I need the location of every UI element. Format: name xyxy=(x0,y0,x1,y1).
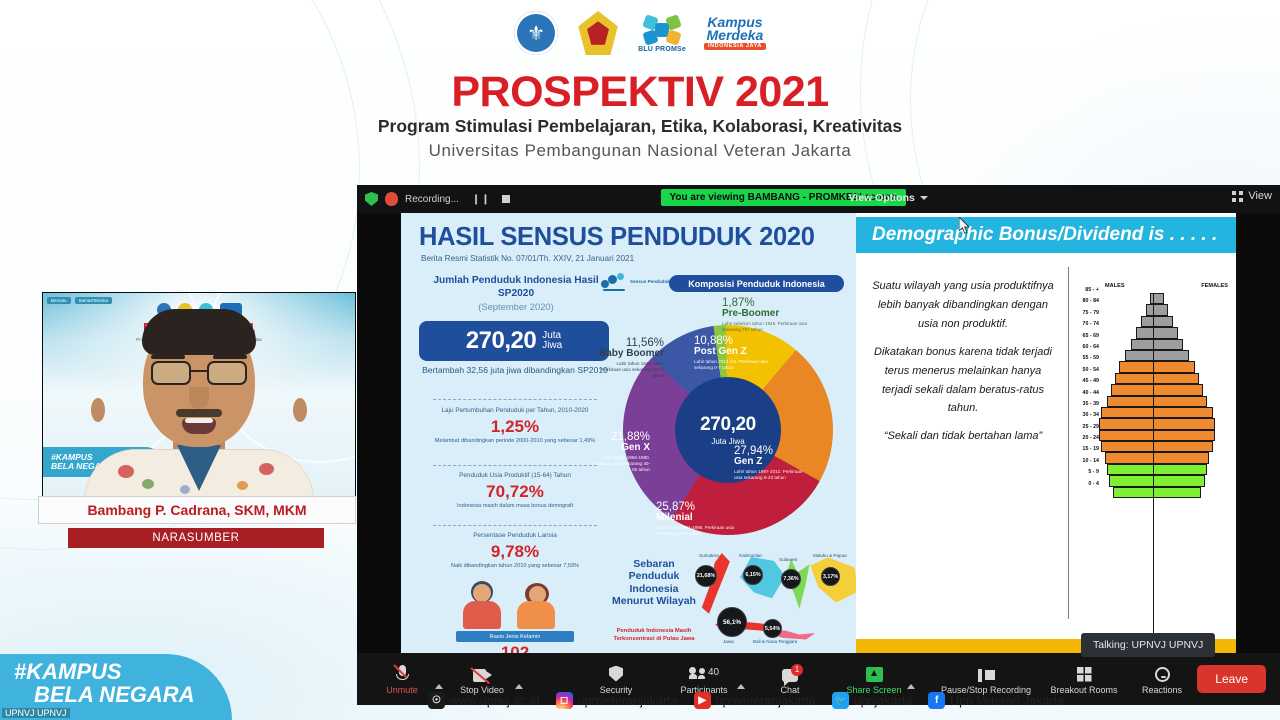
pie-label-baby-boomer: 11,56% Baby Boomer Lahir tahun 1946-1964… xyxy=(598,337,664,380)
instagram-icon: ◻ xyxy=(556,692,573,709)
stat-caption: Penduduk Usia Produktif (15-64) Tahun xyxy=(421,472,609,480)
pie-desc: Lahir tahun 1981-1996. Perkiraan usia se… xyxy=(656,525,738,537)
pie-label-milenial: 25,87% Milenial Lahir tahun 1981-1996. P… xyxy=(656,501,738,537)
pie-label-post-gen-z: 10,88% Post Gen Z Lahir tahun 2013 dst. … xyxy=(694,335,774,371)
speaker-person xyxy=(84,336,314,501)
speaker-name-banner: Bambang P. Cadrana, SKM, MKM xyxy=(38,496,356,524)
pie-name: Baby Boomer xyxy=(598,348,664,359)
map-caption-kalimantan: Kalimantan xyxy=(739,553,762,558)
kampus-merdeka-line3: INDONESIA JAYA xyxy=(704,43,766,50)
stat-value: 9,78% xyxy=(421,542,609,562)
chat-bubble-icon: 1 xyxy=(782,664,798,682)
person-head xyxy=(143,315,255,447)
page-subtitle-program: Program Stimulasi Pembelajaran, Etika, K… xyxy=(0,116,1280,137)
pyramid-bar xyxy=(1101,407,1213,418)
map-bubble-jawa: 56,1% xyxy=(717,607,747,637)
pyramid-bar xyxy=(1101,441,1213,452)
stop-video-button[interactable]: Stop Video xyxy=(451,664,513,695)
bubble-value: 7,36% xyxy=(783,576,798,582)
map-bubble-kalimantan: 6,15% xyxy=(743,565,763,585)
pyramid-row xyxy=(1099,373,1215,384)
stat-caption: Laju Pertumbuhan Penduduk per Tahun, 201… xyxy=(421,407,609,415)
audio-options-chevron-icon[interactable] xyxy=(435,684,443,689)
unit-line2: Jiwa xyxy=(542,340,562,351)
pie-label-pre-boomer: 1,87% Pre-Boomer Lahir sebelum tahun 194… xyxy=(722,297,812,333)
stat-note: Melambat dibandingkan periode 2000-2010 … xyxy=(421,438,609,445)
komposisi-title: Komposisi Penduduk Indonesia xyxy=(669,275,844,292)
pie-name: Pre-Boomer xyxy=(722,308,812,319)
pyramid-row xyxy=(1099,441,1215,452)
map-bubble-bali-nusa-tenggara: 5,54% xyxy=(763,619,782,638)
person-ear-right xyxy=(293,398,307,422)
social-facebook[interactable]: f Upn Veteran Jakarta xyxy=(928,692,1064,709)
participants-count: 40 xyxy=(708,667,719,678)
divider xyxy=(433,465,597,466)
pyramid-age-tick: 40 - 44 xyxy=(1073,388,1099,399)
zoom-top-bar: Recording... ❙❙ You are viewing BAMBANG … xyxy=(357,185,1280,213)
pause-stop-recording-icon xyxy=(978,664,995,682)
stop-recording-button[interactable] xyxy=(502,195,510,203)
map-bubble-sulawesi: 7,36% xyxy=(781,569,801,589)
pyramid-age-tick: 20 - 24 xyxy=(1073,433,1099,444)
pyramid-age-tick: 35 - 39 xyxy=(1073,399,1099,410)
population-headline-line3: (September 2020) xyxy=(421,301,611,313)
pyramid-row xyxy=(1099,293,1215,304)
map-caption-maluku-papua: Maluku & Papua xyxy=(813,553,847,558)
pie-center-value: 270,20 xyxy=(700,414,756,436)
pyramid-bar xyxy=(1131,339,1183,350)
pyramid-age-tick: 80 - 84 xyxy=(1073,296,1099,307)
pyramid-row xyxy=(1099,475,1215,486)
pie-desc: Lahir tahun 1997-2012. Perkiraan usia se… xyxy=(734,469,812,481)
pause-stop-recording-button[interactable]: Pause/Stop Recording xyxy=(931,664,1041,695)
map-caption-jawa: Jawa xyxy=(723,639,734,644)
chevron-down-icon xyxy=(920,196,928,200)
stat-value: 70,72% xyxy=(421,482,609,502)
pie-desc: Lahir tahun 1946-1964. Perkiraan usia se… xyxy=(598,361,664,380)
stat-caption: Persentase Penduduk Lansia xyxy=(421,532,609,540)
facebook-icon: f xyxy=(928,692,945,709)
pyramid-age-tick: 55 - 59 xyxy=(1073,353,1099,364)
pyramid-age-tick: 60 - 64 xyxy=(1073,342,1099,353)
screen-root: ⚜ BLU PROMSe Kampus Merdeka INDONESIA JA… xyxy=(0,0,1280,720)
divider xyxy=(433,399,597,400)
infographic-title: HASIL SENSUS PENDUDUK 2020 xyxy=(419,223,815,252)
gender-ratio-value: 102 xyxy=(421,643,609,653)
pie-desc: Lahir tahun 1965-1980. Perkiraan usia se… xyxy=(590,455,650,474)
pyramid-age-tick: 50 - 54 xyxy=(1073,365,1099,376)
pyramid-age-tick: 85 - + xyxy=(1073,285,1099,296)
map-title: Sebaran Penduduk Indonesia Menurut Wilay… xyxy=(611,558,697,608)
shield-icon xyxy=(609,664,623,682)
social-youtube[interactable]: ▶ upnveteranjakarta xyxy=(694,692,816,709)
share-screen-icon xyxy=(866,664,883,682)
stat-value: 1,25% xyxy=(421,417,609,437)
speaker-video-thumbnail[interactable]: Bersatu Sama4Teknika PROSPEKTIV 2021 Pro… xyxy=(42,292,356,502)
total-population-pill: 270,20 Juta Jiwa xyxy=(419,321,609,361)
demographic-bonus-panel: Demographic Bonus/Dividend is . . . . . … xyxy=(856,213,1236,653)
talking-indicator-tooltip: Talking: UPNVJ UPNVJ xyxy=(1081,633,1215,657)
population-headline-line1: Jumlah Penduduk Indonesia xyxy=(433,275,571,286)
map-caption-sulawesi: Sulawesi xyxy=(779,557,797,562)
participants-button[interactable]: 40 Participants xyxy=(673,664,735,695)
map-caption-sumatera: Sumatera xyxy=(699,553,719,558)
page-title: PROSPEKTIV 2021 xyxy=(0,68,1280,117)
infographic-subtitle: Berita Resmi Statistik No. 07/01/Th. XXI… xyxy=(421,254,634,263)
bubble-value: 21,68% xyxy=(697,573,715,579)
pyramid-age-tick: 0 - 4 xyxy=(1073,479,1099,490)
total-population-value: 270,20 xyxy=(466,327,536,355)
pyramid-row xyxy=(1099,487,1215,498)
watermark-label: UPNVJ UPNVJ xyxy=(2,708,70,718)
leave-meeting-button[interactable]: Leave xyxy=(1197,665,1266,693)
unmute-button[interactable]: Unmute xyxy=(371,664,433,695)
microphone-muted-icon xyxy=(396,664,409,682)
pie-name: Gen X xyxy=(590,442,650,453)
pyramid-age-tick: 45 - 49 xyxy=(1073,376,1099,387)
pyramid-bar xyxy=(1105,452,1209,463)
pyramid-age-axis: 85 - +80 - 8475 - 7970 - 7465 - 6960 - 6… xyxy=(1073,285,1099,490)
pyramid-row xyxy=(1099,327,1215,338)
breakout-rooms-button[interactable]: Breakout Rooms xyxy=(1041,664,1127,695)
pyramid-age-tick: 10 - 14 xyxy=(1073,456,1099,467)
map-bubble-sumatera: 21,68% xyxy=(695,565,717,587)
pyramid-age-tick: 70 - 74 xyxy=(1073,319,1099,330)
stat-productive-age: Penduduk Usia Produktif (15-64) Tahun 70… xyxy=(421,472,609,511)
facebook-label: Upn Veteran Jakarta xyxy=(950,694,1064,708)
paragraph-3: “Sekali dan tidak bertahan lama” xyxy=(870,427,1056,446)
blu-promse-logo: BLU PROMSe xyxy=(638,14,686,53)
mouse-cursor-icon xyxy=(959,217,971,234)
pyramid-bar xyxy=(1099,418,1215,429)
social-website[interactable]: ☉ www.upnvj.ac.id xyxy=(428,692,540,709)
pyramid-row xyxy=(1099,430,1215,441)
pyramid-row xyxy=(1099,350,1215,361)
pyramid-bar xyxy=(1125,350,1189,361)
logo-row: ⚜ BLU PROMSe Kampus Merdeka INDONESIA JA… xyxy=(0,8,1280,58)
social-links-row: ☉ www.upnvj.ac.id ◻ upnveteranjakarta ▶ … xyxy=(428,692,1064,709)
kbn-line1: #KAMPUS xyxy=(14,660,232,683)
participants-chevron-icon[interactable] xyxy=(737,684,745,689)
pyramid-age-tick: 75 - 79 xyxy=(1073,308,1099,319)
pyramid-age-tick: 30 - 34 xyxy=(1073,410,1099,421)
paragraph-2: Dikatakan bonus karena tidak terjadi ter… xyxy=(870,343,1056,419)
gender-ratio-tag: Rasio Jenis Kelamin xyxy=(456,631,574,642)
unit-line1: Juta xyxy=(542,330,561,341)
demographic-bonus-text: Suatu wilayah yang usia produktifnya leb… xyxy=(856,261,1068,639)
blu-promse-label: BLU PROMSe xyxy=(638,46,686,53)
total-population-unit: Juta Jiwa xyxy=(542,331,562,352)
social-instagram[interactable]: ◻ upnveteranjakarta xyxy=(556,692,678,709)
shared-slide: HASIL SENSUS PENDUDUK 2020 Berita Resmi … xyxy=(401,213,1236,653)
people-icon: 40 xyxy=(689,664,719,682)
map-bubble-maluku-papua: 3,17% xyxy=(821,567,840,586)
pie-name: Post Gen Z xyxy=(694,346,774,357)
youtube-label: upnveteranjakarta xyxy=(716,694,816,708)
pause-recording-button[interactable]: ❙❙ xyxy=(472,194,491,205)
pyramid-row xyxy=(1099,418,1215,429)
website-icon: ☉ xyxy=(428,692,445,709)
person-glasses xyxy=(151,361,247,385)
pyramid-row xyxy=(1099,396,1215,407)
speaker-role-banner: NARASUMBER xyxy=(68,528,324,548)
chat-unread-badge: 1 xyxy=(791,664,803,676)
page-subtitle-university: Universitas Pembangunan Nasional Veteran… xyxy=(0,141,1280,161)
person-mouth xyxy=(182,418,216,434)
person-eyebrow-left xyxy=(151,355,185,359)
demographic-bonus-banner: Demographic Bonus/Dividend is . . . . . xyxy=(856,217,1236,253)
pie-desc: Lahir tahun 2013 dst. Perkiraan usia sek… xyxy=(694,359,774,371)
pyramid-females-label: FEMALES xyxy=(1201,283,1228,289)
page-header: ⚜ BLU PROMSe Kampus Merdeka INDONESIA JA… xyxy=(0,0,1280,180)
pyramid-age-tick: 65 - 69 xyxy=(1073,331,1099,342)
paragraph-1: Suatu wilayah yang usia produktifnya leb… xyxy=(870,277,1056,334)
population-composition-pie-chart: 270,20 Juta Jiwa 1,87% Pre-Boomer Lahir … xyxy=(594,305,852,567)
bubble-value: 5,54% xyxy=(765,626,780,632)
social-twitter[interactable]: 🐦 upnjakarta xyxy=(832,692,912,709)
bubble-value: 56,1% xyxy=(723,619,741,626)
bubble-value: 6,15% xyxy=(745,572,760,578)
pyramid-bar xyxy=(1136,327,1178,338)
demographic-bonus-body: Suatu wilayah yang usia produktifnya leb… xyxy=(856,261,1236,639)
youtube-icon: ▶ xyxy=(694,692,711,709)
pyramid-center-line xyxy=(1153,293,1154,639)
recording-indicator-icon[interactable] xyxy=(385,192,398,206)
kampus-merdeka-logo: Kampus Merdeka INDONESIA JAYA xyxy=(704,16,766,50)
total-population-note: Bertambah 32,56 juta jiwa dibandingkan S… xyxy=(421,365,609,376)
upnvj-logo xyxy=(576,11,620,55)
website-label: www.upnvj.ac.id xyxy=(450,694,540,708)
pyramid-row xyxy=(1099,452,1215,463)
pyramid-bar xyxy=(1107,464,1207,475)
pyramid-bar xyxy=(1109,475,1205,486)
pie-label-gen-x: 21,88% Gen X Lahir tahun 1965-1980. Perk… xyxy=(590,431,650,474)
view-button-label: View xyxy=(1248,190,1272,202)
stat-note: Naik dibandingkan tahun 2010 yang sebesa… xyxy=(421,563,609,570)
pie-name: Milenial xyxy=(656,512,738,523)
encryption-shield-icon[interactable] xyxy=(365,192,378,206)
pyramid-row xyxy=(1099,304,1215,315)
pyramid-bar xyxy=(1111,384,1203,395)
stat-note: Indonesia masih dalam masa bonus demogra… xyxy=(421,503,609,510)
pyramid-bar xyxy=(1107,396,1207,407)
view-options-button[interactable]: View Options xyxy=(841,189,936,207)
pyramid-bar xyxy=(1146,304,1168,315)
grid-view-icon xyxy=(1232,191,1243,202)
pyramid-bar xyxy=(1099,430,1215,441)
person-hair xyxy=(142,309,256,355)
pyramid-row xyxy=(1099,361,1215,372)
chat-button[interactable]: 1 Chat xyxy=(759,664,821,695)
person-ear-left xyxy=(91,398,105,422)
population-pyramid-chart: MALES FEMALES 85 - +80 - 8475 - 7970 - 7… xyxy=(1069,261,1236,639)
pie-desc: Lahir sebelum tahun 1945. Perkiraan usia… xyxy=(722,321,812,333)
gender-ratio-illustration xyxy=(459,581,571,629)
population-headline: Jumlah Penduduk Indonesia Hasil SP2020 (… xyxy=(421,275,611,312)
stat-elderly: Persentase Penduduk Lansia 9,78% Naik di… xyxy=(421,532,609,571)
pyramid-age-tick: 15 - 19 xyxy=(1073,444,1099,455)
person-eyebrow-right xyxy=(213,355,247,359)
kbn-line2: BELA NEGARA xyxy=(14,683,232,706)
share-options-chevron-icon[interactable] xyxy=(907,684,915,689)
breakout-rooms-icon xyxy=(1077,664,1092,682)
camera-off-icon xyxy=(473,664,492,682)
person-nose xyxy=(189,387,209,409)
pyramid-bar xyxy=(1141,316,1173,327)
recording-label: Recording... xyxy=(405,194,459,205)
pyramid-age-tick: 25 - 29 xyxy=(1073,422,1099,433)
instagram-label: upnveteranjakarta xyxy=(578,694,678,708)
tut-wuri-handayani-logo: ⚜ xyxy=(514,11,558,55)
zoom-shared-screen-window: Recording... ❙❙ You are viewing BAMBANG … xyxy=(357,185,1280,705)
share-screen-button[interactable]: Share Screen xyxy=(843,664,905,695)
pyramid-bar xyxy=(1115,373,1199,384)
stat-growth-rate: Laju Pertumbuhan Penduduk per Tahun, 201… xyxy=(421,407,609,446)
pyramid-row xyxy=(1099,384,1215,395)
pyramid-row xyxy=(1099,464,1215,475)
pie-label-gen-z: 27,94% Gen Z Lahir tahun 1997-2012. Perk… xyxy=(734,445,812,481)
indonesia-distribution-map: 21,68% 6,15% 7,36% 3,17% 56,1% xyxy=(701,543,856,653)
view-button[interactable]: View xyxy=(1232,190,1272,202)
bubble-value: 3,17% xyxy=(823,574,838,580)
security-button[interactable]: Security xyxy=(585,664,647,695)
pyramid-males-label: MALES xyxy=(1105,283,1125,289)
pyramid-bar xyxy=(1119,361,1195,372)
reactions-icon xyxy=(1155,664,1170,682)
twitter-icon: 🐦 xyxy=(832,692,849,709)
pyramid-age-tick: 5 - 9 xyxy=(1073,467,1099,478)
map-caption-bali: Bali & Nusa Tenggara xyxy=(753,639,797,644)
person-moustache xyxy=(176,409,222,417)
reactions-button[interactable]: Reactions xyxy=(1127,664,1197,695)
unmute-label: Unmute xyxy=(386,685,418,695)
divider xyxy=(433,525,597,526)
pie-name: Gen Z xyxy=(734,456,812,467)
pyramid-row xyxy=(1099,407,1215,418)
view-options-label: View Options xyxy=(849,192,915,204)
pyramid-bar xyxy=(1113,487,1201,498)
reactions-label: Reactions xyxy=(1142,685,1182,695)
map-note: Penduduk Indonesia Masih Terkonsentrasi … xyxy=(606,628,702,643)
video-options-chevron-icon[interactable] xyxy=(515,684,523,689)
kampus-merdeka-line2: Merdeka xyxy=(707,29,764,42)
pyramid-bars xyxy=(1099,293,1215,498)
pyramid-row xyxy=(1099,316,1215,327)
person-shirt xyxy=(84,449,314,501)
pyramid-row xyxy=(1099,339,1215,350)
infographic-census-panel: HASIL SENSUS PENDUDUK 2020 Berita Resmi … xyxy=(401,213,856,653)
twitter-label: upnjakarta xyxy=(854,694,912,708)
